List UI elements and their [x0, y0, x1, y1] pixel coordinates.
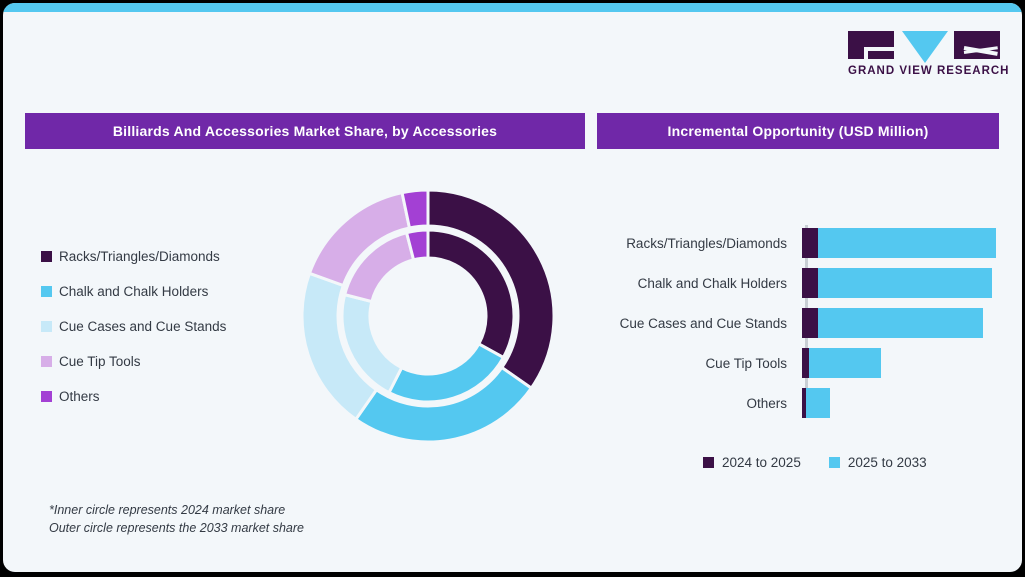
- bar-segment-2025-to-2033: [806, 388, 830, 418]
- bar-segment-2025-to-2033: [818, 268, 992, 298]
- bar-row: Racks/Triangles/Diamonds: [597, 225, 1001, 261]
- logo-marks: [848, 29, 1000, 61]
- bar-legend-label: 2024 to 2025: [722, 455, 801, 470]
- screenshot-canvas: GRAND VIEW RESEARCH Billiards And Access…: [0, 0, 1025, 577]
- bar-track: [802, 348, 881, 378]
- bar-segment-2024-to-2025: [802, 308, 818, 338]
- logo-g-notch: [864, 47, 894, 51]
- legend-item-racks-triangles-diamonds: Racks/Triangles/Diamonds: [41, 239, 281, 274]
- bar-legend-item-2025-to-2033: 2025 to 2033: [829, 455, 927, 470]
- top-accent-strip: [3, 3, 1022, 12]
- donut-outer-ring-2033: [302, 190, 554, 442]
- bar-chart-legend: 2024 to 2025 2025 to 2033: [703, 455, 927, 470]
- legend-item-label: Racks/Triangles/Diamonds: [59, 249, 220, 264]
- bar-row: Cue Tip Tools: [597, 345, 1001, 381]
- legend-swatch-icon: [41, 356, 52, 367]
- report-card: GRAND VIEW RESEARCH Billiards And Access…: [3, 3, 1022, 572]
- bar-track: [802, 268, 992, 298]
- bar-track: [802, 388, 830, 418]
- legend-item-label: Cue Cases and Cue Stands: [59, 319, 226, 334]
- bar-segment-2025-to-2033: [818, 228, 996, 258]
- grand-view-research-logo: GRAND VIEW RESEARCH: [848, 29, 1000, 81]
- legend-swatch-icon: [829, 457, 840, 468]
- legend-swatch-icon: [41, 286, 52, 297]
- donut-legend: Racks/Triangles/Diamonds Chalk and Chalk…: [41, 239, 281, 414]
- logo-wordmark: GRAND VIEW RESEARCH: [848, 65, 1000, 77]
- bar-category-label: Chalk and Chalk Holders: [597, 276, 799, 291]
- bar-row: Others: [597, 385, 1001, 421]
- legend-swatch-icon: [41, 391, 52, 402]
- legend-item-cue-cases-and-cue-stands: Cue Cases and Cue Stands: [41, 309, 281, 344]
- bar-track: [802, 228, 996, 258]
- legend-item-others: Others: [41, 379, 281, 414]
- legend-item-label: Others: [59, 389, 100, 404]
- legend-item-chalk-and-chalk-holders: Chalk and Chalk Holders: [41, 274, 281, 309]
- donut-chart-svg: [300, 188, 556, 444]
- logo-g-block: [848, 31, 894, 59]
- bar-category-label: Others: [597, 396, 799, 411]
- incremental-opportunity-bar-chart: Racks/Triangles/Diamonds Chalk and Chalk…: [597, 225, 1001, 415]
- bar-segment-2025-to-2033: [809, 348, 881, 378]
- bar-track: [802, 308, 983, 338]
- bar-segment-2024-to-2025: [802, 348, 809, 378]
- bar-row: Cue Cases and Cue Stands: [597, 305, 1001, 341]
- bar-row: Chalk and Chalk Holders: [597, 265, 1001, 301]
- bar-segment-2024-to-2025: [802, 268, 818, 298]
- logo-v-triangle-icon: [902, 31, 948, 63]
- legend-item-label: Cue Tip Tools: [59, 354, 141, 369]
- legend-swatch-icon: [703, 457, 714, 468]
- footnote-line-2: Outer circle represents the 2033 market …: [49, 519, 304, 537]
- logo-g-notch-vertical: [864, 47, 868, 59]
- bar-legend-item-2024-to-2025: 2024 to 2025: [703, 455, 801, 470]
- legend-swatch-icon: [41, 251, 52, 262]
- bar-category-label: Racks/Triangles/Diamonds: [597, 236, 799, 251]
- legend-item-cue-tip-tools: Cue Tip Tools: [41, 344, 281, 379]
- legend-swatch-icon: [41, 321, 52, 332]
- nested-donut-chart: [300, 188, 556, 444]
- bar-category-label: Cue Cases and Cue Stands: [597, 316, 799, 331]
- footnote-line-1: *Inner circle represents 2024 market sha…: [49, 501, 304, 519]
- panel-title-market-share: Billiards And Accessories Market Share, …: [25, 113, 585, 149]
- bar-segment-2024-to-2025: [802, 228, 818, 258]
- bar-legend-label: 2025 to 2033: [848, 455, 927, 470]
- legend-item-label: Chalk and Chalk Holders: [59, 284, 208, 299]
- donut-inner-ring-2024: [342, 230, 514, 402]
- bar-category-label: Cue Tip Tools: [597, 356, 799, 371]
- panel-title-incremental-opportunity: Incremental Opportunity (USD Million): [597, 113, 999, 149]
- bar-segment-2025-to-2033: [818, 308, 983, 338]
- donut-footnote: *Inner circle represents 2024 market sha…: [49, 501, 304, 537]
